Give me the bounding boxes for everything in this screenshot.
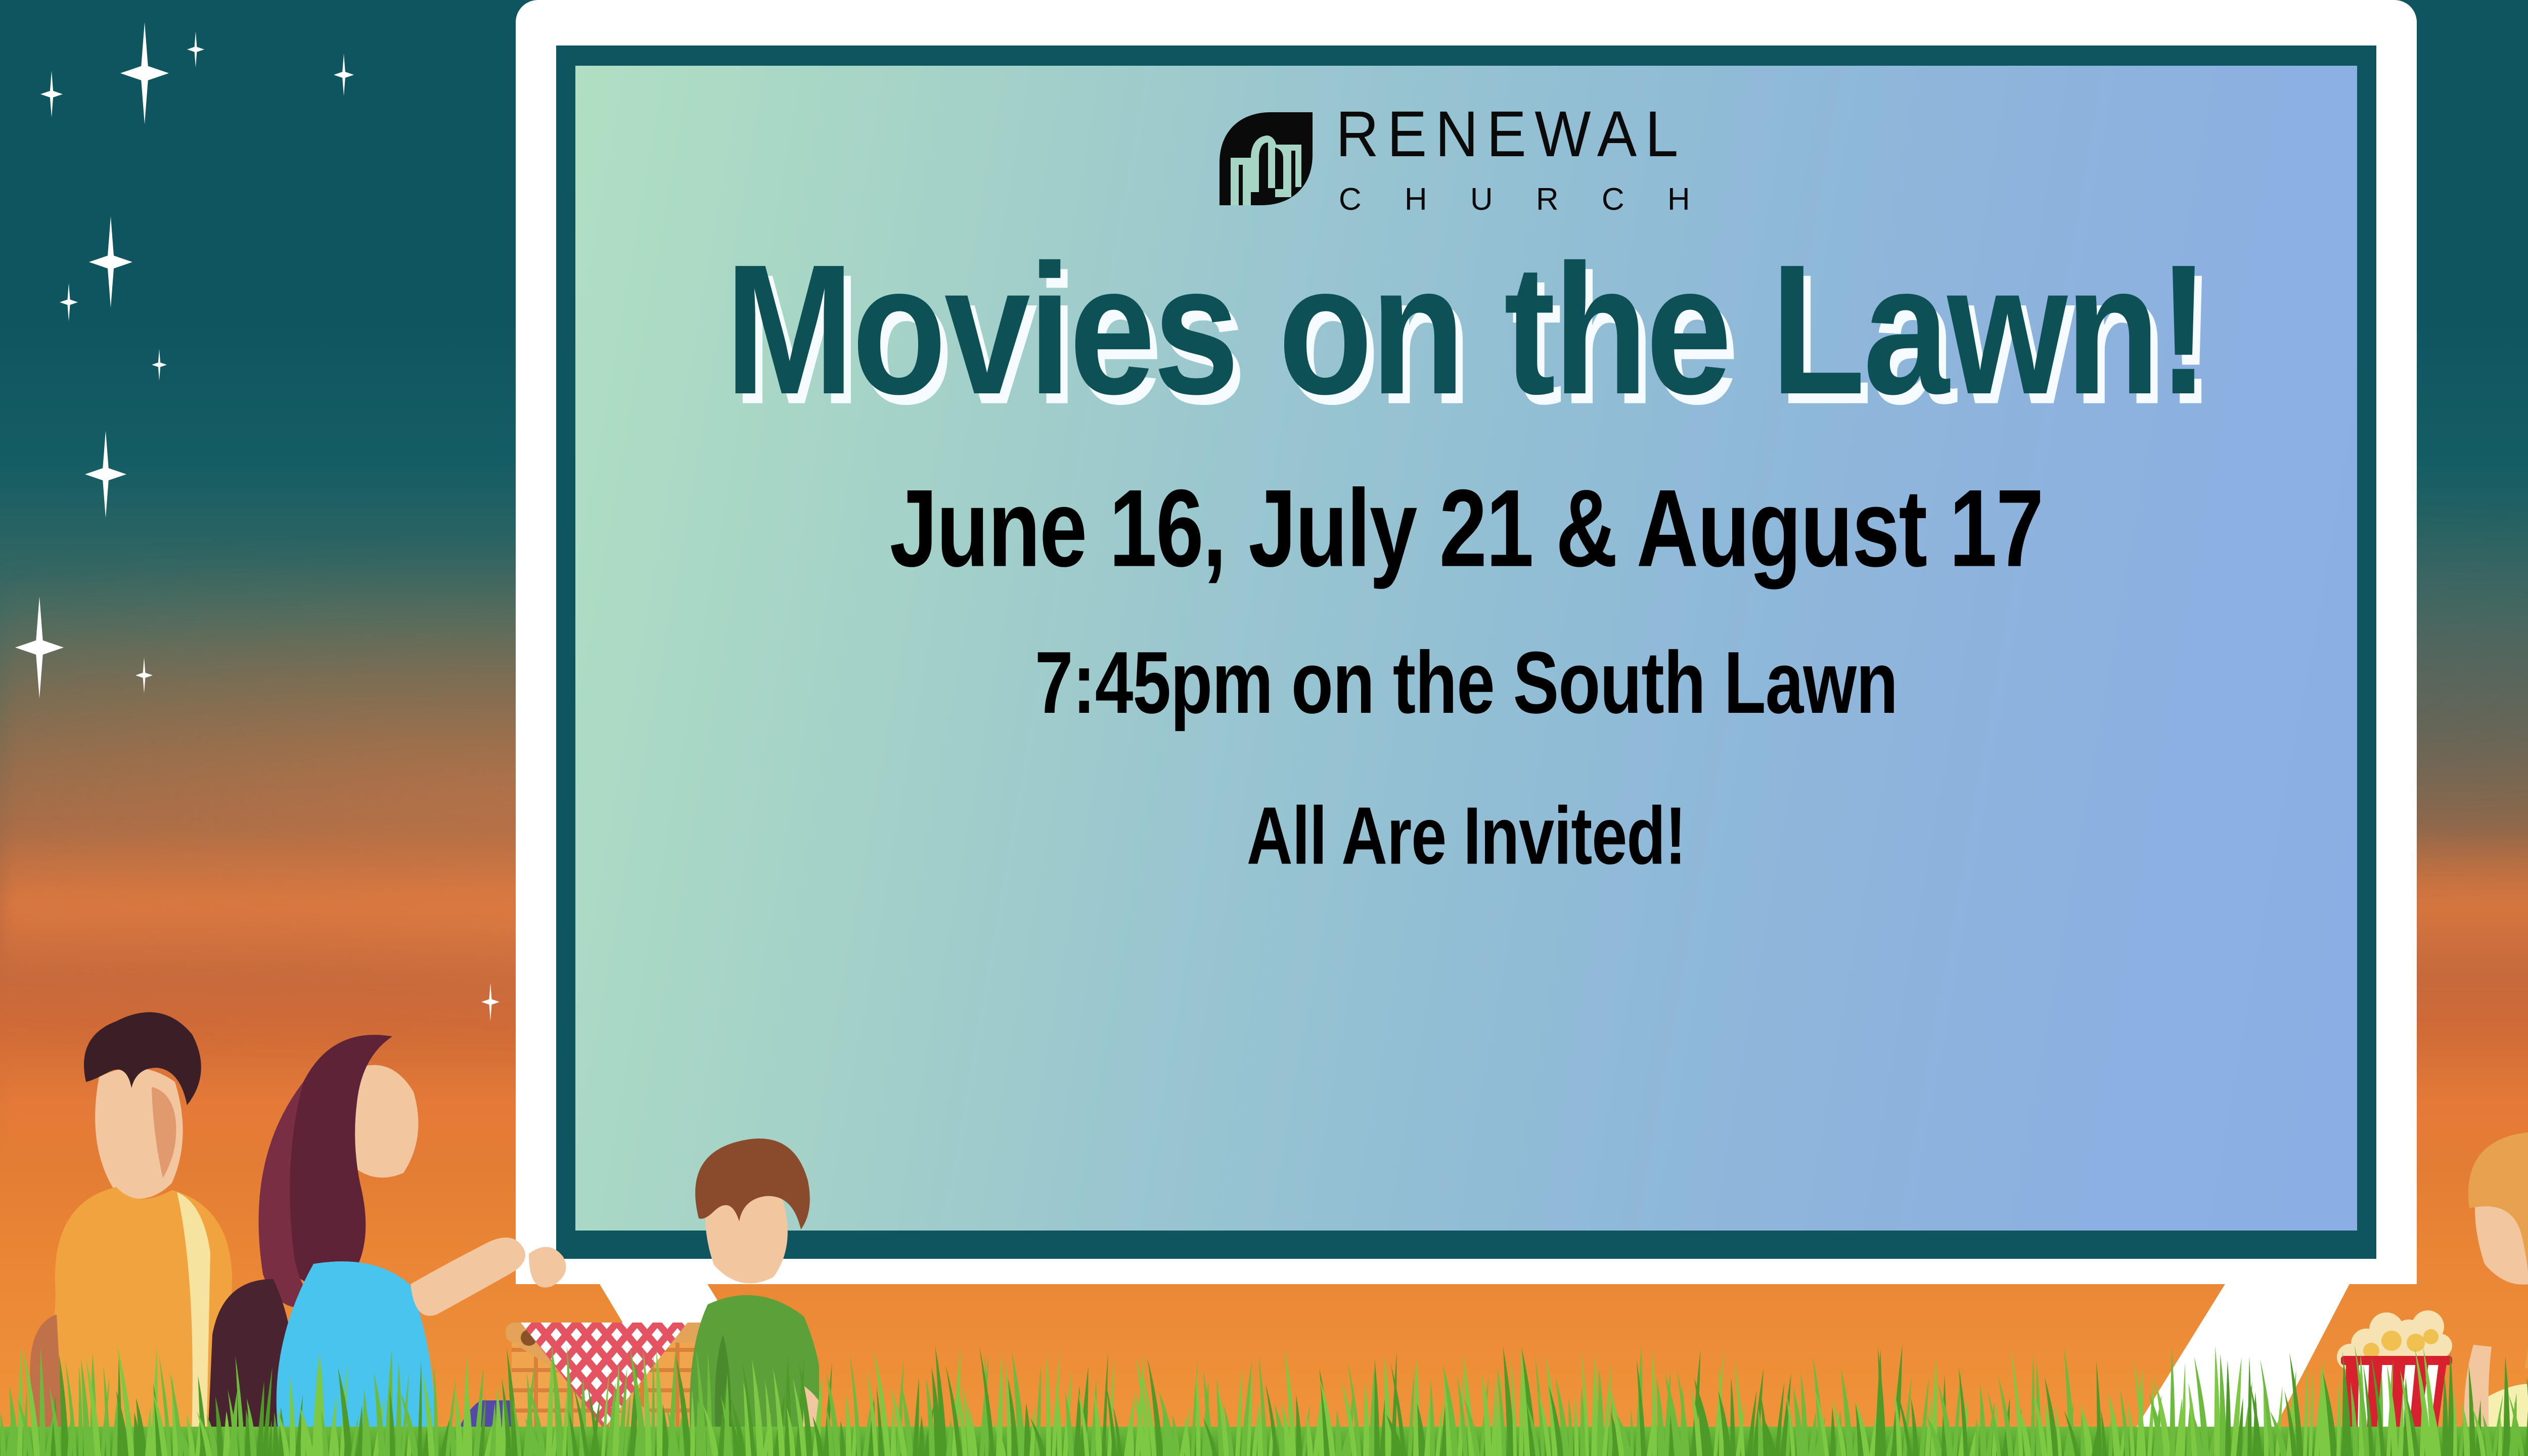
brand-name: RENEWAL bbox=[1336, 102, 1687, 167]
event-flyer-poster: RENEWAL C H U R C H Movies on the Lawn! … bbox=[0, 0, 2528, 1456]
grass-foreground bbox=[0, 1340, 2528, 1456]
grass-blades bbox=[0, 1340, 2528, 1456]
event-time-location: 7:45pm on the South Lawn bbox=[575, 632, 2357, 733]
brand-wordmark: RENEWAL C H U R C H bbox=[1336, 102, 1717, 215]
brand-logo: RENEWAL C H U R C H bbox=[575, 102, 2357, 215]
projection-screen: RENEWAL C H U R C H Movies on the Lawn! … bbox=[575, 66, 2357, 1231]
renewal-leaf-buildings-logo-icon bbox=[1215, 108, 1317, 209]
event-dates: June 16, July 21 & August 17 bbox=[575, 465, 2357, 592]
brand-subtitle: C H U R C H bbox=[1336, 184, 1707, 215]
event-invitation: All Are Invited! bbox=[575, 789, 2357, 883]
page-title: Movies on the Lawn! bbox=[575, 222, 2357, 436]
